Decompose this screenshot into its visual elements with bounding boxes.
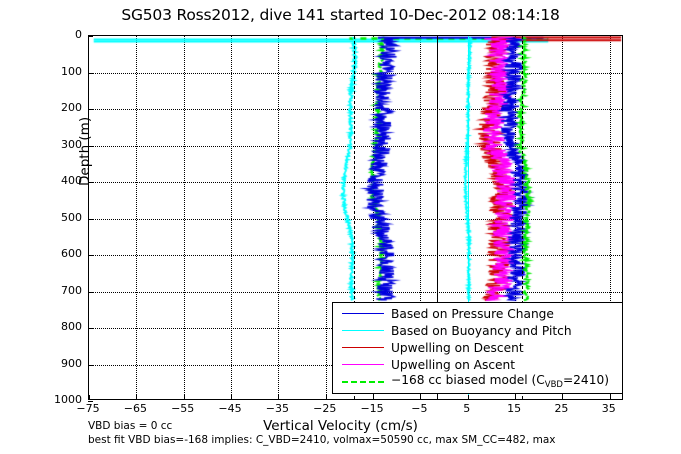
x-tick [562, 395, 563, 400]
legend-swatch-solid [342, 364, 384, 365]
annotation-best-fit: best fit VBD bias=-168 implies: C_VBD=24… [88, 434, 556, 446]
legend-label: Upwelling on Descent [391, 341, 524, 355]
annotation-vbd-bias: VBD bias = 0 cc [88, 420, 172, 432]
x-tick-label: 15 [492, 402, 536, 415]
y-tick-label: 600 [42, 247, 82, 260]
y-tick [88, 36, 93, 37]
x-tick [184, 395, 185, 400]
x-tick-label: −65 [113, 402, 157, 415]
y-tick [88, 219, 93, 220]
legend-item[interactable]: Upwelling on Ascent [333, 356, 622, 373]
figure-title: SG503 Ross2012, dive 141 started 10-Dec-… [0, 6, 681, 24]
x-tick [278, 395, 279, 400]
y-tick-label: 700 [42, 284, 82, 297]
legend-swatch-solid [342, 313, 384, 314]
x-tick [89, 395, 90, 400]
y-tick [88, 109, 93, 110]
x-tick [231, 395, 232, 400]
y-tick-label: 400 [42, 174, 82, 187]
legend-item[interactable]: −168 cc biased model (CVBD=2410) [333, 373, 622, 390]
x-tick [610, 395, 611, 400]
x-tick-label: 35 [587, 402, 631, 415]
x-tick [136, 395, 137, 400]
y-tick-label: 300 [42, 138, 82, 151]
legend-item[interactable]: Upwelling on Descent [333, 339, 622, 356]
legend-item[interactable]: Based on Pressure Change [333, 305, 622, 322]
y-tick-label: 800 [42, 320, 82, 333]
x-tick-label: −5 [397, 402, 441, 415]
legend-swatch-dashed [342, 381, 384, 383]
legend-box: Based on Pressure ChangeBased on Buoyanc… [332, 302, 623, 394]
y-tick [88, 365, 93, 366]
y-tick-label: 1000 [42, 393, 82, 406]
x-tick [515, 395, 516, 400]
legend-label-subscript: VBD [545, 380, 563, 390]
y-tick [88, 182, 93, 183]
legend-swatch-solid [342, 347, 384, 348]
y-tick [88, 73, 93, 74]
legend-label: −168 cc biased model (CVBD=2410) [391, 373, 609, 390]
x-tick-label: −35 [255, 402, 299, 415]
y-tick-label: 100 [42, 65, 82, 78]
legend-label: Based on Pressure Change [391, 307, 554, 321]
y-tick-label: 500 [42, 211, 82, 224]
y-tick [88, 146, 93, 147]
x-tick-label: 5 [445, 402, 489, 415]
x-tick [420, 395, 421, 400]
y-tick [88, 328, 93, 329]
x-tick-label: −15 [350, 402, 394, 415]
figure-root: SG503 Ross2012, dive 141 started 10-Dec-… [0, 0, 681, 454]
legend-item[interactable]: Based on Buoyancy and Pitch [333, 322, 622, 339]
x-tick [373, 395, 374, 400]
y-tick [88, 292, 93, 293]
y-tick [88, 255, 93, 256]
legend-swatch-solid [342, 330, 384, 331]
x-tick-label: −25 [303, 402, 347, 415]
legend-label: Based on Buoyancy and Pitch [391, 324, 572, 338]
legend-label: Upwelling on Ascent [391, 358, 515, 372]
x-tick-label: −55 [161, 402, 205, 415]
x-tick-label: 25 [539, 402, 583, 415]
y-tick-label: 900 [42, 357, 82, 370]
y-tick-label: 0 [42, 28, 82, 41]
y-tick-label: 200 [42, 101, 82, 114]
x-tick [326, 395, 327, 400]
x-tick [468, 395, 469, 400]
x-tick-label: −45 [208, 402, 252, 415]
